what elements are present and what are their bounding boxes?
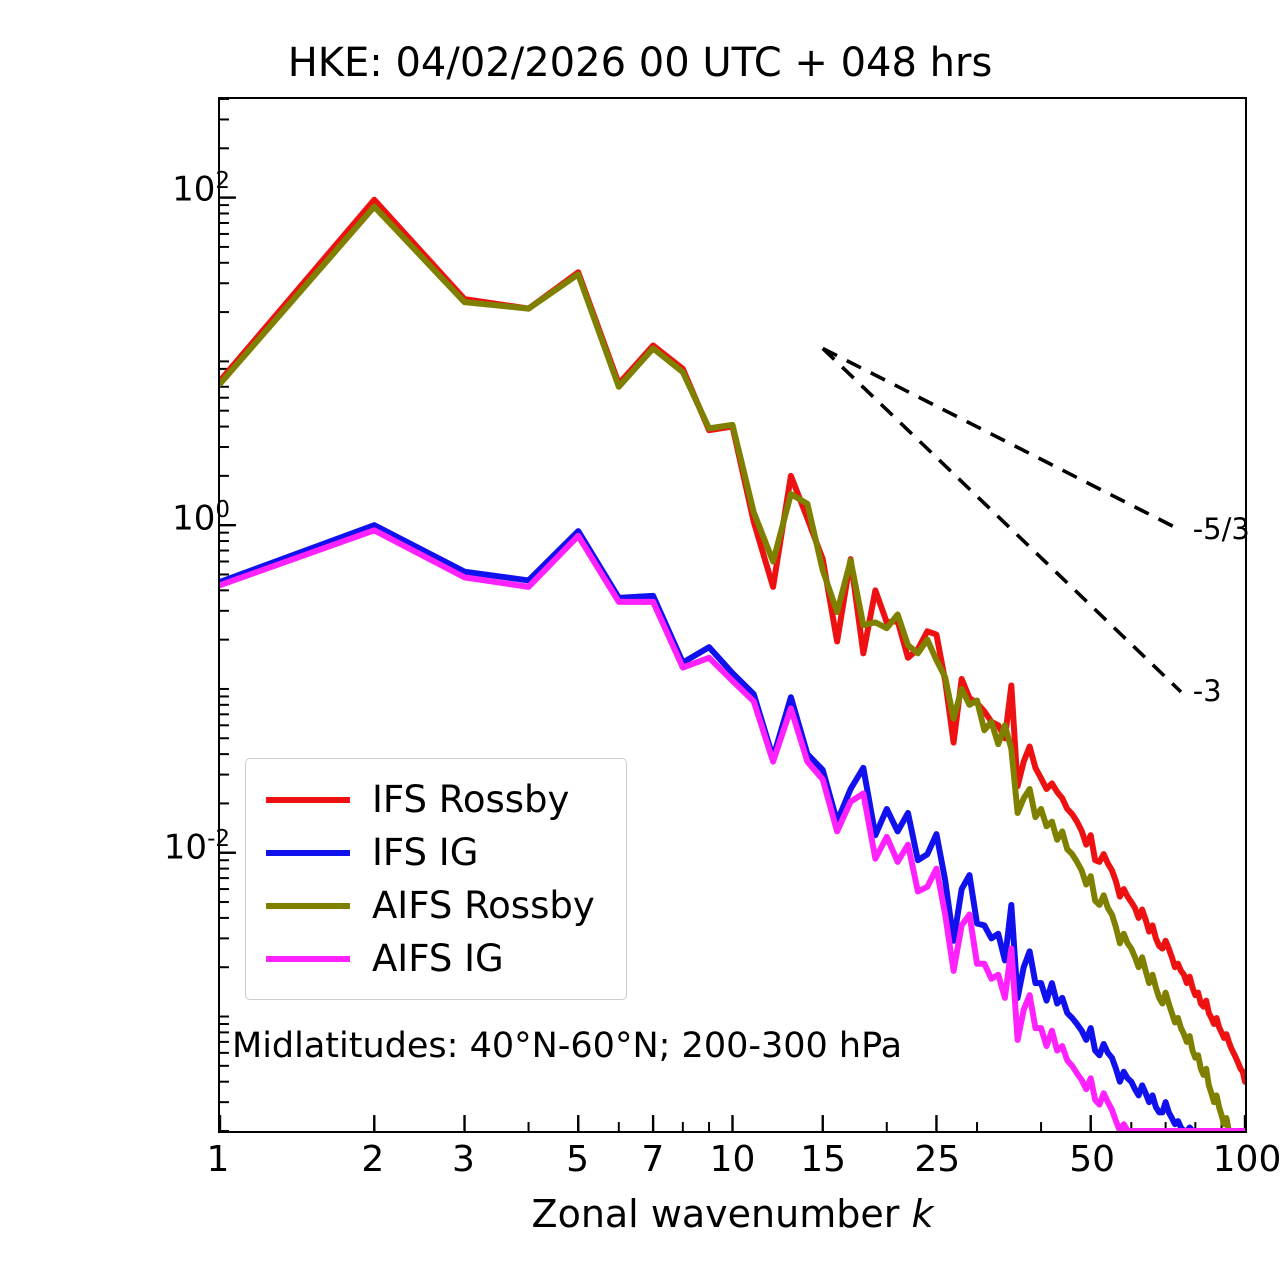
x-tick-label: 50 [1037, 1142, 1147, 1178]
legend-item-ifs-rossby[interactable]: IFS Rossby [246, 773, 626, 826]
legend: IFS RossbyIFS IGAIFS RossbyAIFS IG [245, 758, 627, 1000]
legend-swatch-icon [266, 797, 350, 803]
region-annotation: Midlatitudes: 40°N-60°N; 200-300 hPa [232, 1026, 902, 1066]
x-tick-label: 100 [1192, 1142, 1280, 1178]
x-tick-label: 1 [163, 1142, 273, 1178]
legend-swatch-icon [266, 903, 350, 909]
legend-swatch-icon [266, 956, 350, 962]
x-tick-label: 3 [408, 1142, 518, 1178]
figure-root: HKE: 04/02/2026 00 UTC + 048 hrs Horizon… [0, 0, 1280, 1288]
chart-title: HKE: 04/02/2026 00 UTC + 048 hrs [0, 40, 1280, 86]
y-tick-label: 102 [172, 170, 230, 206]
y-tick-label: 10-2 [164, 828, 230, 864]
x-axis-label: Zonal wavenumber k [218, 1192, 1247, 1236]
x-tick-label: 15 [768, 1142, 878, 1178]
x-tick-label: 25 [882, 1142, 992, 1178]
slope-label--5-3: -5/3 [1193, 515, 1250, 544]
legend-swatch-icon [266, 850, 350, 856]
legend-item-aifs-rossby[interactable]: AIFS Rossby [246, 879, 626, 932]
legend-label: AIFS Rossby [372, 887, 595, 924]
legend-label: IFS Rossby [372, 781, 569, 818]
legend-item-aifs-ig[interactable]: AIFS IG [246, 932, 626, 985]
reference-line--5-3 [823, 348, 1181, 530]
legend-item-ifs-ig[interactable]: IFS IG [246, 826, 626, 879]
legend-label: AIFS IG [372, 940, 504, 977]
slope-label--3: -3 [1193, 677, 1222, 706]
y-tick-label: 100 [172, 499, 230, 535]
reference-line--3 [823, 348, 1181, 691]
legend-label: IFS IG [372, 834, 478, 871]
reference-lines-group [823, 348, 1181, 691]
